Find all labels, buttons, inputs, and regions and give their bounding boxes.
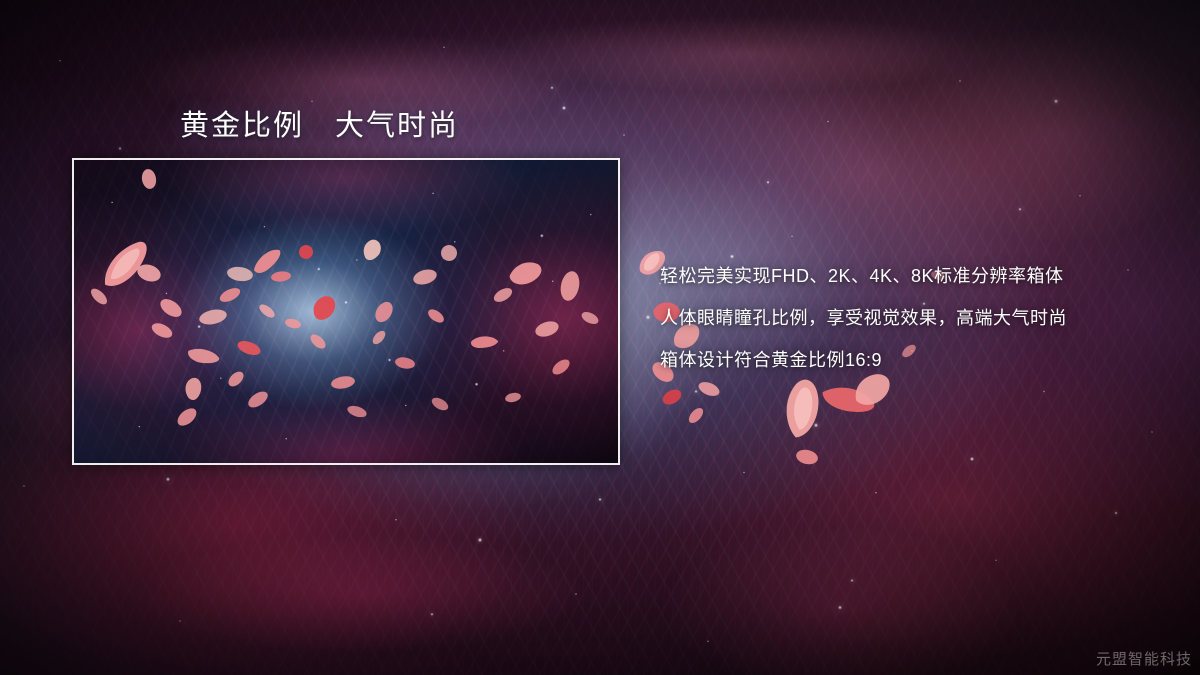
body-line-1: 轻松完美实现FHD、2K、4K、8K标准分辨率箱体 bbox=[660, 255, 1160, 297]
petal-icon bbox=[658, 385, 685, 410]
watermark-label: 元盟智能科技 bbox=[1096, 648, 1192, 669]
slide-title: 黄金比例 大气时尚 bbox=[180, 102, 459, 144]
presentation-slide: 黄金比例 大气时尚 bbox=[0, 0, 1200, 675]
petal-icon bbox=[771, 372, 838, 443]
petal-icon bbox=[684, 404, 707, 428]
framed-photo bbox=[72, 158, 620, 465]
photo-starfield bbox=[74, 160, 618, 463]
petal-icon bbox=[793, 446, 820, 469]
body-line-2: 人体眼睛瞳孔比例，享受视觉效果，高端大气时尚 bbox=[660, 297, 1160, 339]
body-text-block: 轻松完美实现FHD、2K、4K、8K标准分辨率箱体 人体眼睛瞳孔比例，享受视觉效… bbox=[660, 255, 1160, 381]
body-line-3: 箱体设计符合黄金比例16:9 bbox=[660, 339, 1160, 381]
